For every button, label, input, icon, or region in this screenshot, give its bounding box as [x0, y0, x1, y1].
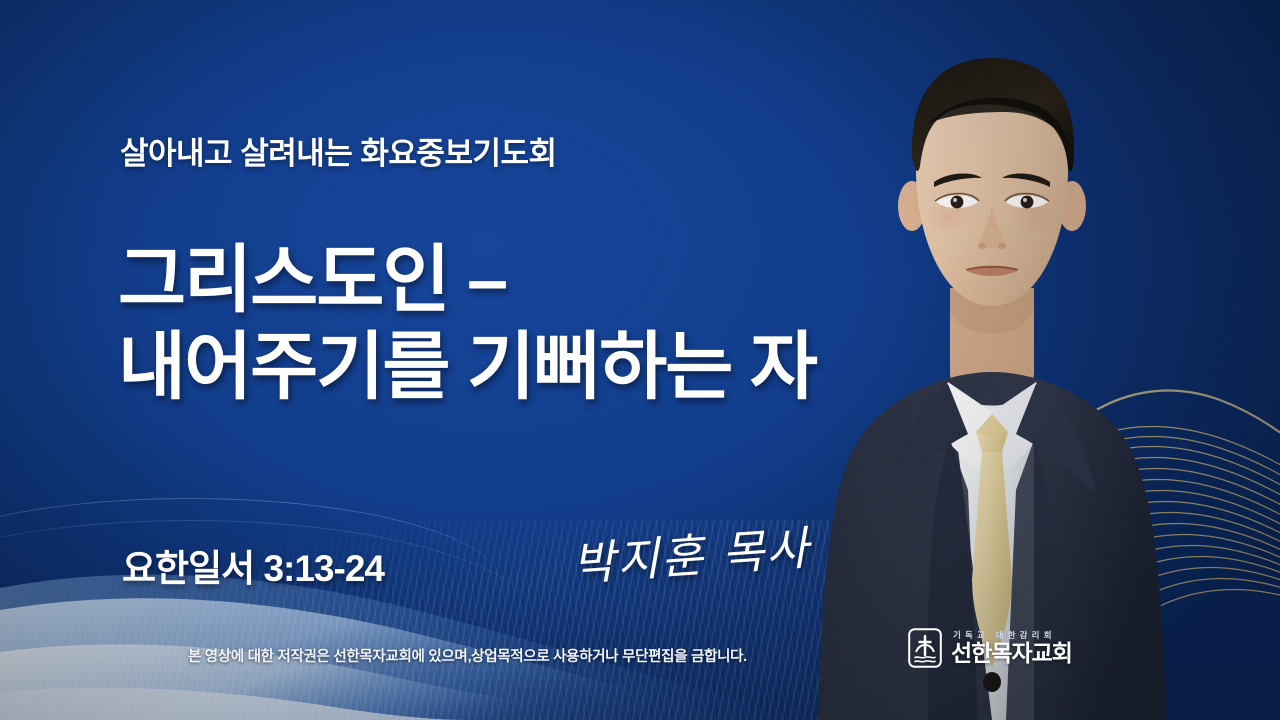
- broadcast-title-card: 살아내고 살려내는 화요중보기도회 그리스도인 – 내어주기를 기뻐하는 자 요…: [0, 0, 1280, 720]
- kicker-bold-text: 화요중보기도회: [360, 136, 556, 171]
- sermon-title-line1: 그리스도인 –: [118, 236, 816, 323]
- church-name-label: 선한목자교회: [951, 642, 1072, 665]
- kicker-light-text: 살아내고 살려내는: [120, 136, 360, 171]
- cross-water-emblem-icon: [908, 628, 942, 668]
- sermon-title-line2: 내어주기를 기뻐하는 자: [118, 323, 816, 410]
- church-logo-text: 기독교 대한감리회 선한목자교회: [951, 631, 1072, 666]
- program-kicker: 살아내고 살려내는 화요중보기도회: [120, 128, 557, 173]
- denomination-label: 기독교 대한감리회: [953, 631, 1072, 640]
- sermon-title: 그리스도인 – 내어주기를 기뻐하는 자: [118, 236, 816, 411]
- church-logo: 기독교 대한감리회 선한목자교회: [908, 628, 1072, 668]
- speaker-name: 박지훈 목사: [570, 512, 812, 594]
- copyright-notice: 본 영상에 대한 저작권은 선한목자교회에 있으며,상업목적으로 사용하거나 무…: [188, 645, 747, 666]
- speaker-portrait-photo: [782, 20, 1202, 720]
- gold-wave-lineart-icon: [990, 330, 1280, 660]
- scripture-reference: 요한일서 3:13-24: [122, 538, 384, 592]
